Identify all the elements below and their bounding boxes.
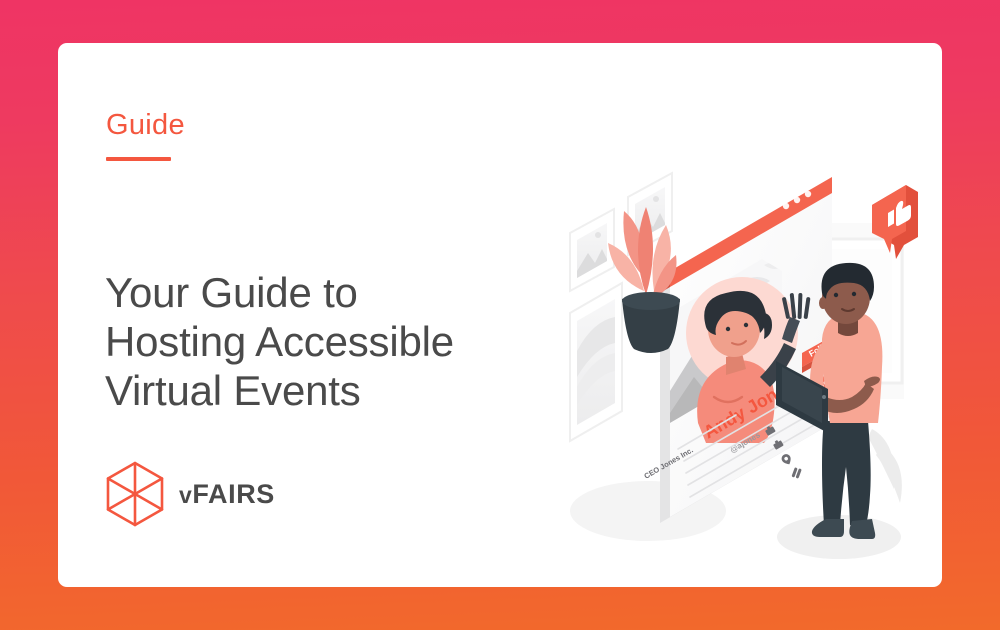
person-shoe-right	[849, 519, 875, 539]
hexagon-cube-icon	[105, 461, 165, 527]
vfairs-logo: vFAIRS	[105, 461, 275, 527]
content-card: Guide Your Guide to Hosting Accessible V…	[58, 43, 942, 587]
headline-line-3: Virtual Events	[105, 367, 535, 416]
decorative-leaves	[868, 429, 902, 503]
headline-line-1: Your Guide to	[105, 269, 535, 318]
browser-dot-3	[783, 203, 789, 209]
person-legs	[822, 421, 871, 525]
page-title: Your Guide to Hosting Accessible Virtual…	[105, 269, 535, 415]
poster-canvas: Guide Your Guide to Hosting Accessible V…	[0, 0, 1000, 630]
logo-wordmark-v: v	[179, 482, 192, 508]
logo-wordmark-fairs: FAIRS	[192, 479, 275, 509]
eyebrow-underline	[106, 157, 171, 161]
location-pin-icon	[780, 453, 793, 467]
browser-dot-2	[794, 197, 800, 203]
wall-frame-1	[570, 209, 614, 291]
logo-wordmark: vFAIRS	[179, 479, 275, 510]
wall-frame-3	[570, 283, 622, 441]
link-icon	[788, 465, 805, 481]
headline-line-2: Hosting Accessible	[105, 318, 535, 367]
browser-dot-1	[805, 191, 811, 197]
hero-illustration: Andy Jones @ajones CEO Jones Inc.	[536, 161, 936, 581]
eyebrow-label: Guide	[106, 111, 185, 140]
